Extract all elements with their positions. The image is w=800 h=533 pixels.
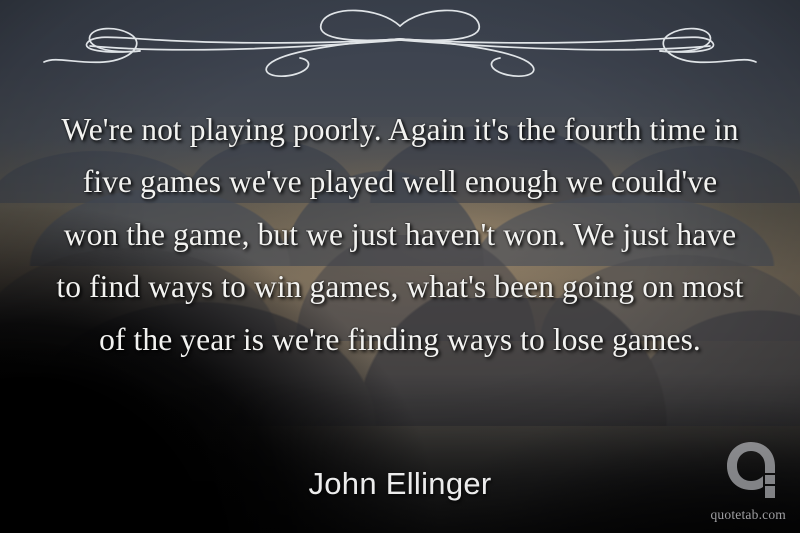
quote-author: John Ellinger	[0, 466, 800, 502]
quote-card: We're not playing poorly. Again it's the…	[0, 0, 800, 533]
bottom-fade-overlay	[0, 373, 800, 533]
quote-text: We're not playing poorly. Again it's the…	[52, 104, 748, 366]
watermark[interactable]: quotetab.com	[704, 439, 786, 523]
quotetab-q-logo-icon	[726, 441, 782, 499]
watermark-site-label: quotetab.com	[704, 507, 786, 523]
